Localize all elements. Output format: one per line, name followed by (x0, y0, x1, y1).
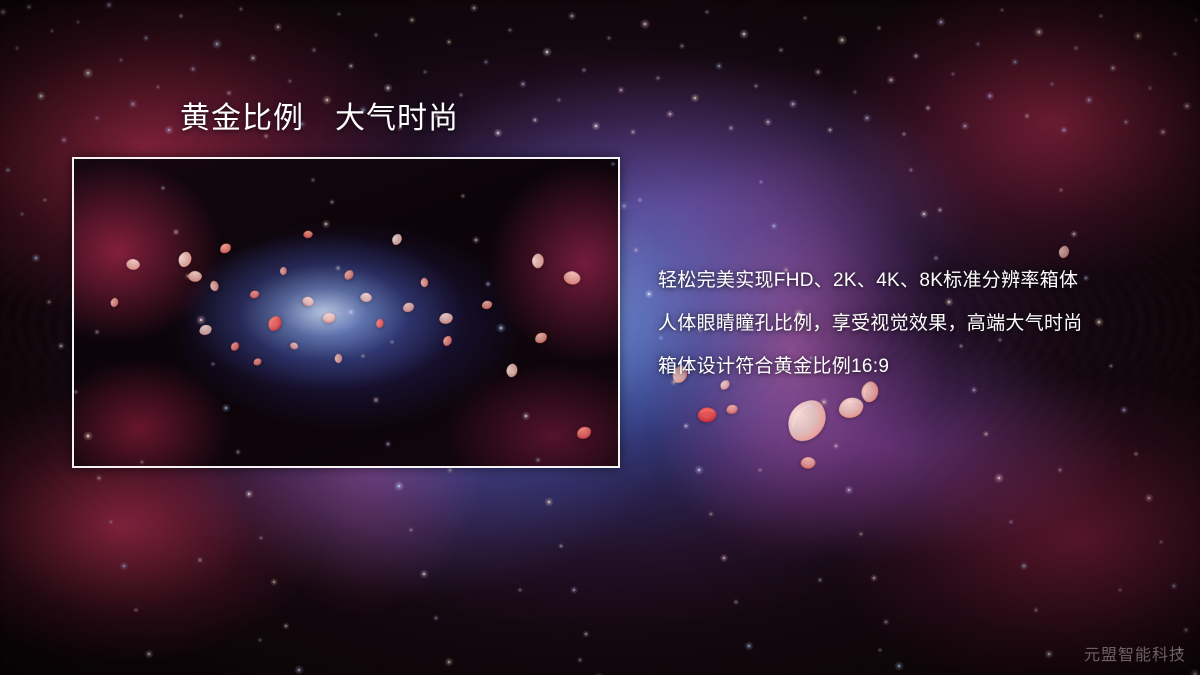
rose-petal (794, 450, 821, 476)
rose-petal (721, 400, 744, 419)
description-line-1: 轻松完美实现FHD、2K、4K、8K标准分辨率箱体 (658, 259, 1178, 302)
description-line-2: 人体眼睛瞳孔比例，享受视觉效果，高端大气时尚 (658, 302, 1178, 345)
rose-petal (825, 388, 877, 429)
rose-petal (691, 400, 723, 430)
rose-petal (780, 388, 835, 454)
feature-description: 轻松完美实现FHD、2K、4K、8K标准分辨率箱体 人体眼睛瞳孔比例，享受视觉效… (658, 259, 1178, 388)
presentation-slide: 黄金比例 大气时尚 轻松完美实现FHD、2K、4K、8K标准分辨率箱体 人体眼睛… (0, 0, 1200, 675)
display-screen-preview[interactable] (72, 157, 620, 468)
screen-preview-starfield (74, 159, 620, 468)
page-title: 黄金比例 大气时尚 (180, 101, 459, 137)
company-watermark: 元盟智能科技 (1084, 641, 1186, 665)
description-line-3: 箱体设计符合黄金比例16:9 (658, 345, 1178, 388)
